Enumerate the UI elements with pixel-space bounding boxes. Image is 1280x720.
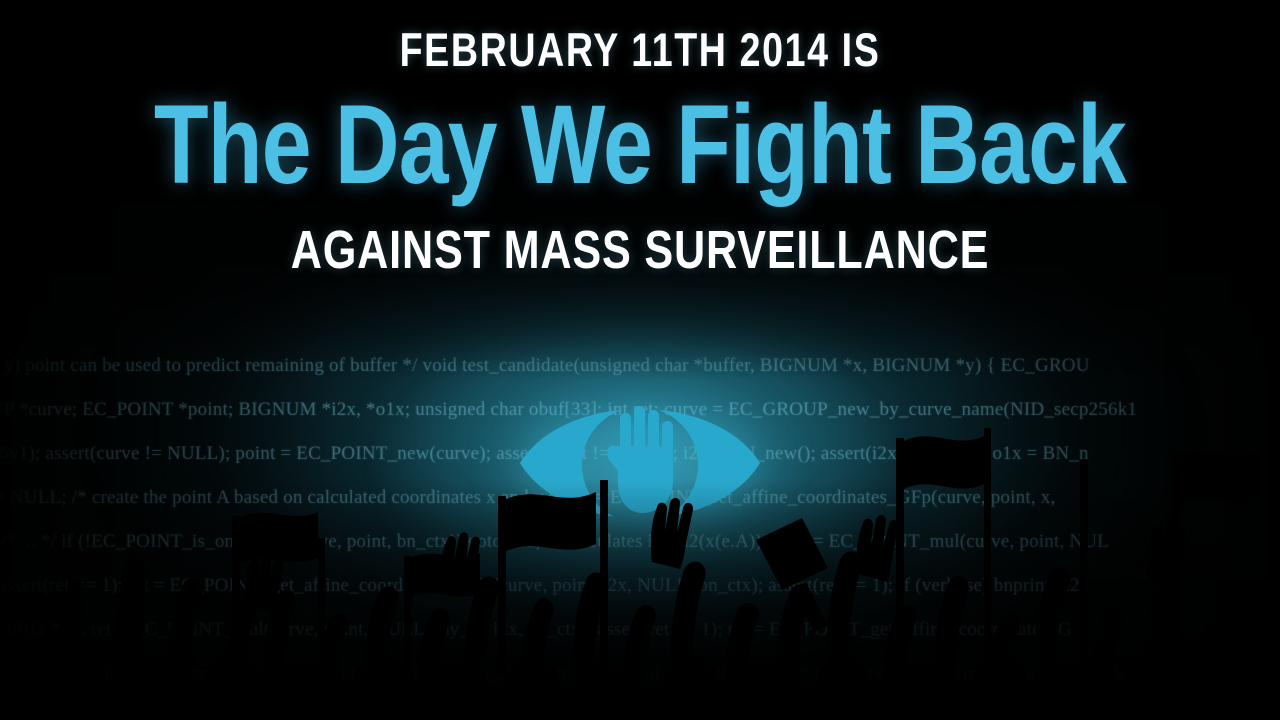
headline-block: FEBRUARY 11TH 2014 IS The Day We Fight B… [0, 0, 1280, 277]
subtitle: AGAINST MASS SURVEILLANCE [128, 223, 1152, 277]
poster-canvas: y) point can be used to predict remainin… [0, 0, 1280, 720]
page-title: The Day We Fight Back [128, 89, 1152, 201]
eyebrow-date: FEBRUARY 11TH 2014 IS [128, 26, 1152, 73]
background-bottom-vignette [0, 480, 1280, 720]
